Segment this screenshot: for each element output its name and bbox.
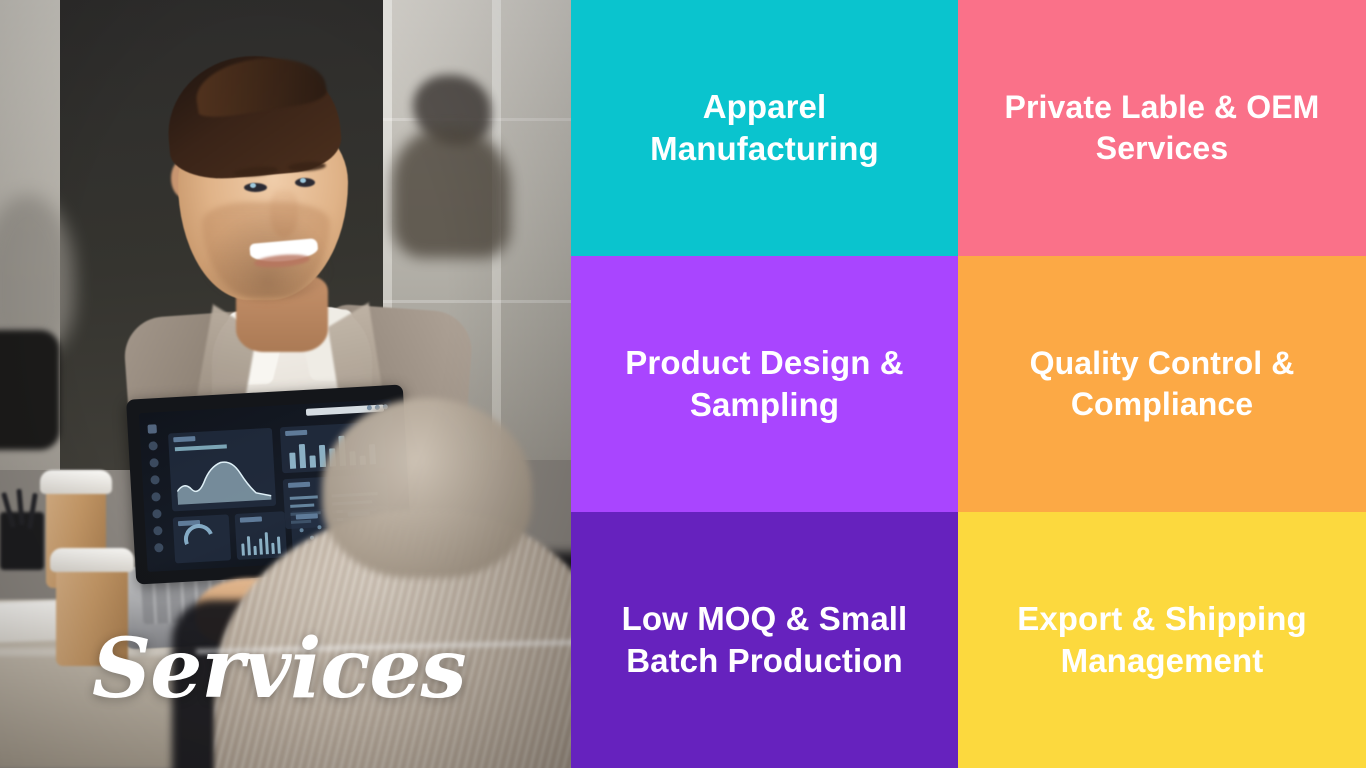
service-cell-quality-control-compliance[interactable]: Quality Control & Compliance — [958, 256, 1366, 512]
eye-highlight-right — [300, 178, 306, 183]
eye-highlight-left — [250, 183, 256, 188]
service-label: Private Lable & OEM Services — [976, 87, 1348, 169]
service-cell-export-shipping-management[interactable]: Export & Shipping Management — [958, 512, 1366, 768]
service-cell-apparel-manufacturing[interactable]: Apparel Manufacturing — [571, 0, 958, 256]
cup-lid — [50, 548, 134, 572]
hero-photo-panel: Services — [0, 0, 571, 768]
service-label: Export & Shipping Management — [976, 598, 1348, 682]
service-label: Product Design & Sampling — [589, 342, 940, 426]
background-chair-left — [0, 330, 60, 450]
service-cell-private-label-oem[interactable]: Private Lable & OEM Services — [958, 0, 1366, 256]
services-grid: Apparel Manufacturing Private Lable & OE… — [571, 0, 1366, 768]
services-slide: Services Apparel Manufacturing Private L… — [0, 0, 1366, 768]
nose — [270, 190, 298, 238]
cup-lid — [40, 470, 112, 494]
page-title: Services — [92, 628, 466, 710]
service-label: Low MOQ & Small Batch Production — [589, 598, 940, 682]
service-cell-product-design-sampling[interactable]: Product Design & Sampling — [571, 256, 958, 512]
dashboard-sidebar — [143, 420, 167, 564]
service-label: Apparel Manufacturing — [589, 86, 940, 170]
service-cell-low-moq-small-batch[interactable]: Low MOQ & Small Batch Production — [571, 512, 958, 768]
foreground-person-head — [322, 398, 532, 578]
service-label: Quality Control & Compliance — [976, 343, 1348, 425]
